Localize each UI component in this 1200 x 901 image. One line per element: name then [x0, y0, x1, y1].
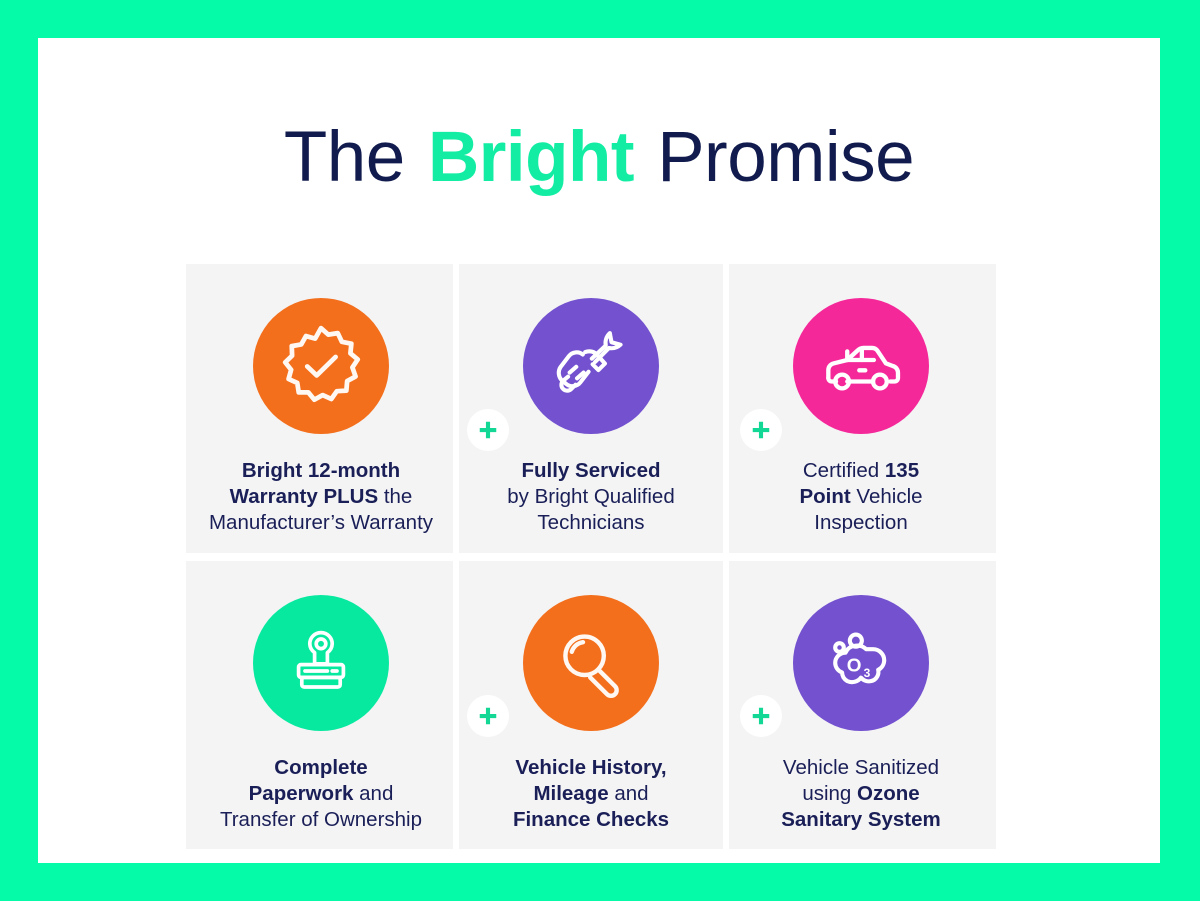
promise-card-warranty[interactable]: Bright 12-month Warranty PLUS the Manufa… — [186, 264, 456, 553]
caption-bold-line1: Fully Serviced — [521, 459, 660, 482]
caption-bold-line1: Vehicle History, — [515, 756, 666, 779]
promise-card-caption: Certified 135 Point Vehicle Inspection — [799, 458, 922, 537]
caption-rest-line2: and — [609, 782, 649, 805]
caption-rest-line2: the — [378, 485, 412, 508]
plus-icon — [750, 705, 772, 727]
caption-line2: by Bright Qualified — [507, 485, 675, 508]
caption-bold-line1: 135 — [885, 459, 919, 482]
caption-line2-regular: using — [802, 782, 857, 805]
promise-card-caption: Vehicle History, Mileage and Finance Che… — [513, 755, 669, 834]
promise-card-caption: Fully Serviced by Bright Qualified Techn… — [507, 458, 675, 537]
caption-bold-line3: Finance Checks — [513, 808, 669, 831]
title-word-promise: Promise — [657, 118, 914, 197]
svg-text:3: 3 — [864, 665, 871, 679]
plus-connector-1 — [467, 409, 509, 451]
caption-bold-line1: Complete — [274, 756, 367, 779]
plus-connector-4 — [740, 695, 782, 737]
plus-icon — [477, 419, 499, 441]
promise-card-caption: Complete Paperwork and Transfer of Owner… — [220, 755, 422, 834]
rubber-stamp-icon — [253, 595, 389, 731]
caption-bold-line3: Sanitary System — [781, 808, 941, 831]
caption-line1: Vehicle Sanitized — [783, 756, 939, 779]
caption-rest-line2: Vehicle — [851, 485, 923, 508]
caption-bold-line1: Bright 12-month — [242, 459, 400, 482]
caption-line3: Inspection — [814, 511, 907, 534]
promise-card-caption: Bright 12-month Warranty PLUS the Manufa… — [209, 458, 433, 537]
caption-bold-line2: Paperwork — [249, 782, 354, 805]
plus-icon — [750, 419, 772, 441]
magnifying-glass-icon — [523, 595, 659, 731]
promise-card-serviced[interactable]: Fully Serviced by Bright Qualified Techn… — [456, 264, 726, 553]
caption-line3: Transfer of Ownership — [220, 808, 422, 831]
promise-card-paperwork[interactable]: Complete Paperwork and Transfer of Owner… — [186, 561, 456, 850]
svg-text:O: O — [847, 655, 862, 676]
promise-card-caption: Vehicle Sanitized using Ozone Sanitary S… — [781, 755, 941, 834]
promise-card-inspection[interactable]: Certified 135 Point Vehicle Inspection — [726, 264, 996, 553]
car-icon — [793, 298, 929, 434]
caption-rest-line2: and — [353, 782, 393, 805]
caption-bold-line2: Warranty PLUS — [230, 485, 378, 508]
white-panel: The Bright Promise Bright 12-month Warra… — [38, 38, 1160, 863]
promise-grid: Bright 12-month Warranty PLUS the Manufa… — [186, 264, 996, 804]
page-title: The Bright Promise — [38, 122, 1160, 193]
plus-connector-2 — [740, 409, 782, 451]
ozone-cloud-icon: O 3 — [793, 595, 929, 731]
title-word-bright: Bright — [424, 118, 638, 197]
hand-wrench-icon — [523, 298, 659, 434]
caption-line3: Technicians — [537, 511, 644, 534]
caption-bold-line2: Ozone — [857, 782, 920, 805]
plus-icon — [477, 705, 499, 727]
caption-line3: Manufacturer’s Warranty — [209, 511, 433, 534]
title-word-the: The — [284, 118, 405, 197]
badge-check-icon — [253, 298, 389, 434]
caption-bold-line2: Mileage — [533, 782, 608, 805]
caption-bold-line2: Point — [799, 485, 850, 508]
plus-connector-3 — [467, 695, 509, 737]
caption-line1-regular: Certified — [803, 459, 885, 482]
